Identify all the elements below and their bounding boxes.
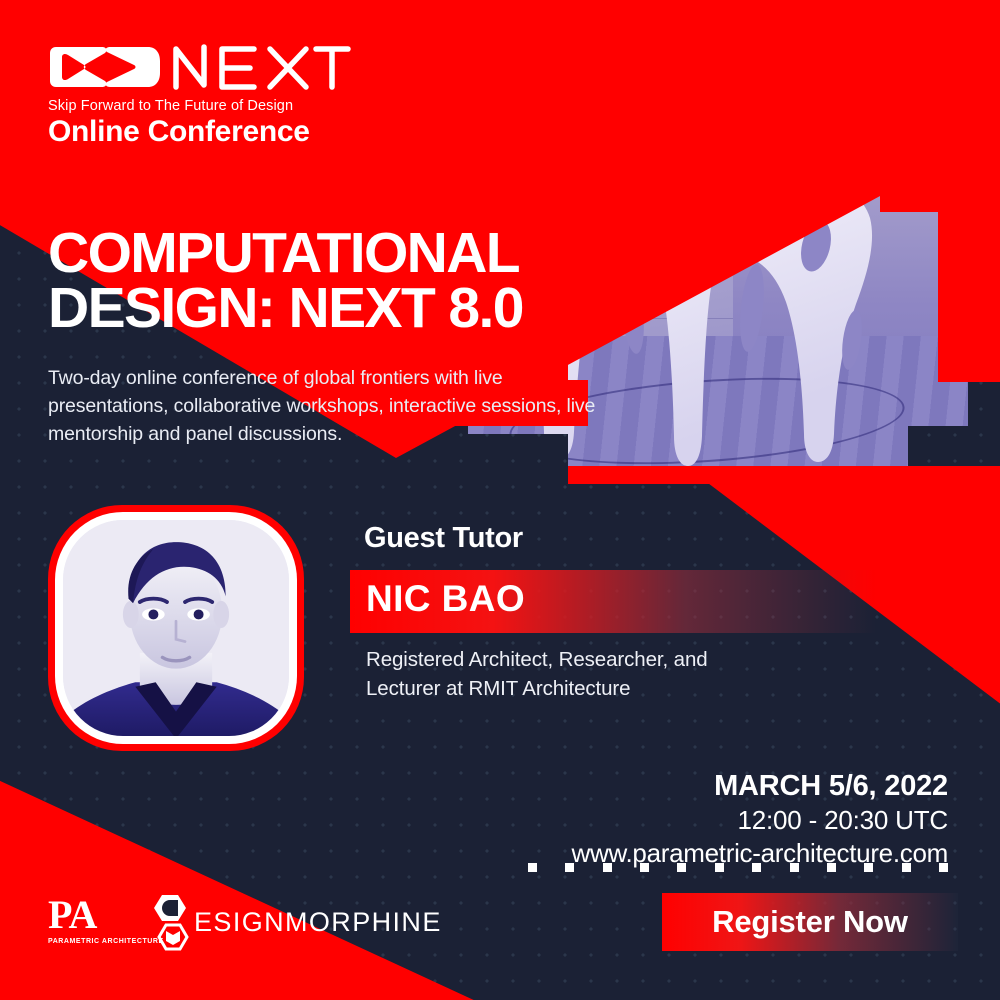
event-details: MARCH 5/6, 2022 12:00 - 20:30 UTC www.pa… bbox=[572, 770, 948, 869]
conference-poster: Skip Forward to The Future of Design Onl… bbox=[0, 0, 1000, 1000]
divider-square bbox=[677, 863, 686, 872]
divider-square bbox=[790, 863, 799, 872]
divider-square bbox=[528, 863, 537, 872]
cd-next-logo-icon bbox=[48, 39, 166, 95]
red-notch-right-upper bbox=[880, 22, 1000, 212]
divider-square bbox=[640, 863, 649, 872]
divider-square bbox=[715, 863, 724, 872]
register-button-label: Register Now bbox=[712, 904, 908, 940]
square-divider bbox=[528, 863, 948, 872]
brand-logo-block[interactable]: Skip Forward to The Future of Design Onl… bbox=[48, 38, 352, 148]
speaker-bio-line-1: Registered Architect, Researcher, and bbox=[366, 645, 708, 674]
title-line-2: DESIGN: NEXT 8.0 bbox=[48, 281, 523, 336]
speaker-bio-line-2: Lecturer at RMIT Architecture bbox=[366, 674, 708, 703]
event-time: 12:00 - 20:30 UTC bbox=[572, 805, 948, 836]
speaker-portrait-image bbox=[63, 520, 289, 736]
event-date: MARCH 5/6, 2022 bbox=[572, 770, 948, 803]
next-wordmark bbox=[170, 41, 352, 93]
event-description: Two-day online conference of global fron… bbox=[48, 364, 608, 448]
speaker-role-label: Guest Tutor bbox=[364, 522, 523, 555]
speaker-name: NIC BAO bbox=[366, 578, 525, 620]
red-notch-right-lower bbox=[938, 212, 1000, 382]
speaker-bio: Registered Architect, Researcher, and Le… bbox=[366, 645, 708, 703]
divider-square bbox=[902, 863, 911, 872]
designmorphine-wordmark: ESIGNMORPHINE bbox=[194, 907, 442, 938]
avatar-white-ring bbox=[55, 512, 297, 744]
title-line-1: COMPUTATIONAL bbox=[48, 226, 523, 281]
divider-square bbox=[603, 863, 612, 872]
cd-next-lockup bbox=[48, 38, 352, 96]
divider-square bbox=[565, 863, 574, 872]
designmorphine-logo[interactable]: ESIGNMORPHINE bbox=[146, 893, 442, 951]
avatar bbox=[48, 505, 304, 751]
divider-square bbox=[752, 863, 761, 872]
divider-square bbox=[939, 863, 948, 872]
event-type-label: Online Conference bbox=[48, 115, 352, 148]
red-triangle-bottom-left bbox=[0, 780, 558, 1000]
designmorphine-hexagon-icon bbox=[146, 893, 200, 951]
brand-tagline: Skip Forward to The Future of Design bbox=[48, 98, 352, 114]
divider-square bbox=[864, 863, 873, 872]
page-title: COMPUTATIONAL DESIGN: NEXT 8.0 bbox=[48, 226, 523, 337]
register-button[interactable]: Register Now bbox=[662, 893, 958, 951]
red-notch-bottom-strip bbox=[568, 466, 1000, 484]
divider-square bbox=[827, 863, 836, 872]
